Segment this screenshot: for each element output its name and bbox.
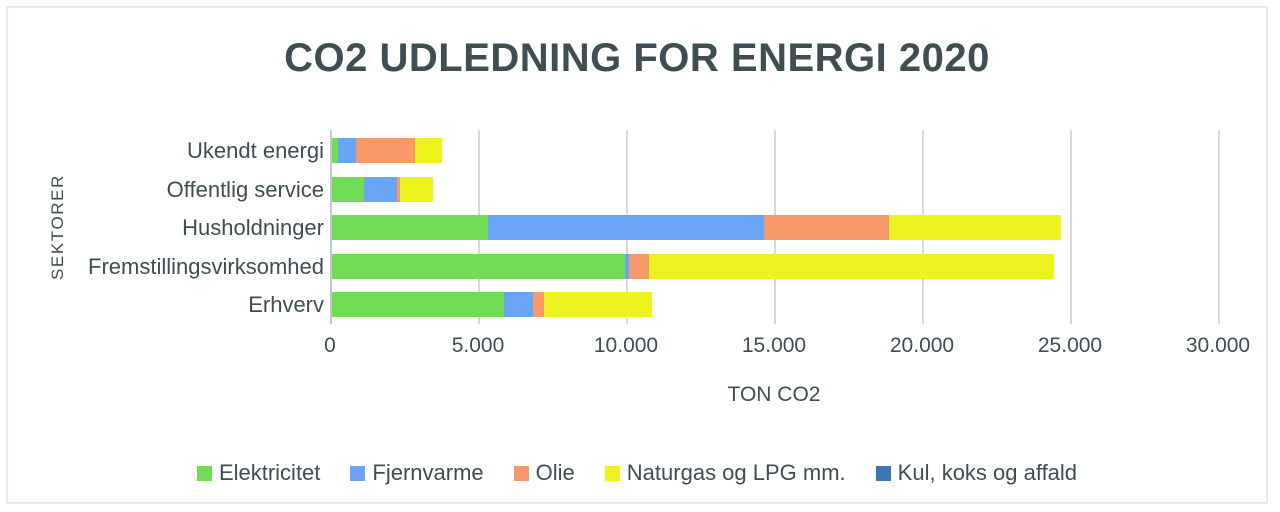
- legend-item[interactable]: Naturgas og LPG mm.: [605, 460, 846, 486]
- x-axis-tick-label: 30.000: [1186, 334, 1250, 358]
- legend-label: Olie: [536, 460, 575, 486]
- legend-swatch-icon: [514, 466, 529, 481]
- x-axis-tick-label: 15.000: [742, 334, 806, 358]
- y-axis-tick-label: Ukendt energi: [68, 138, 324, 163]
- legend-item[interactable]: Elektricitet: [197, 460, 320, 486]
- bar-segment[interactable]: [332, 177, 364, 202]
- bar-segment[interactable]: [338, 138, 356, 163]
- legend-label: Elektricitet: [219, 460, 320, 486]
- legend-item[interactable]: Kul, koks og affald: [876, 460, 1077, 486]
- legend-swatch-icon: [876, 466, 891, 481]
- x-axis-tick-label: 5.000: [452, 334, 505, 358]
- bar-segment[interactable]: [889, 215, 1061, 240]
- plot-area: [330, 130, 1250, 324]
- bar-segment[interactable]: [488, 215, 764, 240]
- bar-segment[interactable]: [400, 177, 433, 202]
- bar-segment[interactable]: [629, 254, 649, 279]
- legend-label: Naturgas og LPG mm.: [627, 460, 846, 486]
- bar-segment[interactable]: [504, 292, 533, 317]
- bar-series-group: [330, 130, 1250, 324]
- bar-row[interactable]: [332, 138, 442, 163]
- y-axis-title-label: SEKTORER: [48, 174, 68, 280]
- chart-legend: ElektricitetFjernvarmeOlieNaturgas og LP…: [8, 460, 1266, 486]
- x-axis-title: TON CO2: [330, 383, 1218, 407]
- x-axis-tick-label: 20.000: [890, 334, 954, 358]
- bar-row[interactable]: [332, 254, 1054, 279]
- x-axis-tick-label: 0: [324, 334, 336, 358]
- bar-row[interactable]: [332, 177, 433, 202]
- chart-container: CO2 UDLEDNING FOR ENERGI 2020 SEKTORER U…: [6, 6, 1268, 504]
- bar-segment[interactable]: [533, 292, 544, 317]
- bar-row[interactable]: [332, 292, 652, 317]
- chart-title: CO2 UDLEDNING FOR ENERGI 2020: [8, 36, 1266, 81]
- bar-segment[interactable]: [764, 215, 889, 240]
- legend-item[interactable]: Olie: [514, 460, 575, 486]
- bar-segment[interactable]: [332, 215, 488, 240]
- legend-label: Fjernvarme: [372, 460, 483, 486]
- bar-segment[interactable]: [332, 254, 625, 279]
- legend-item[interactable]: Fjernvarme: [350, 460, 483, 486]
- y-axis-tick-label: Fremstillingsvirksomhed: [68, 254, 324, 279]
- y-axis-tick-label: Erhverv: [68, 292, 324, 317]
- x-axis-tick-label: 10.000: [594, 334, 658, 358]
- bar-row[interactable]: [332, 215, 1061, 240]
- bar-segment[interactable]: [332, 292, 504, 317]
- y-axis-tick-labels: Ukendt energiOffentlig serviceHusholdnin…: [68, 130, 324, 324]
- legend-label: Kul, koks og affald: [898, 460, 1077, 486]
- y-axis-tick-label: Offentlig service: [68, 177, 324, 202]
- x-axis-tick-labels: 05.00010.00015.00020.00025.00030.000: [330, 334, 1250, 364]
- legend-swatch-icon: [350, 466, 365, 481]
- bar-segment[interactable]: [415, 138, 442, 163]
- bar-segment[interactable]: [544, 292, 652, 317]
- legend-swatch-icon: [197, 466, 212, 481]
- y-axis-tick-label: Husholdninger: [68, 215, 324, 240]
- x-axis-tick-label: 25.000: [1038, 334, 1102, 358]
- legend-swatch-icon: [605, 466, 620, 481]
- bar-segment[interactable]: [356, 138, 415, 163]
- bar-segment[interactable]: [649, 254, 1054, 279]
- bar-segment[interactable]: [364, 177, 397, 202]
